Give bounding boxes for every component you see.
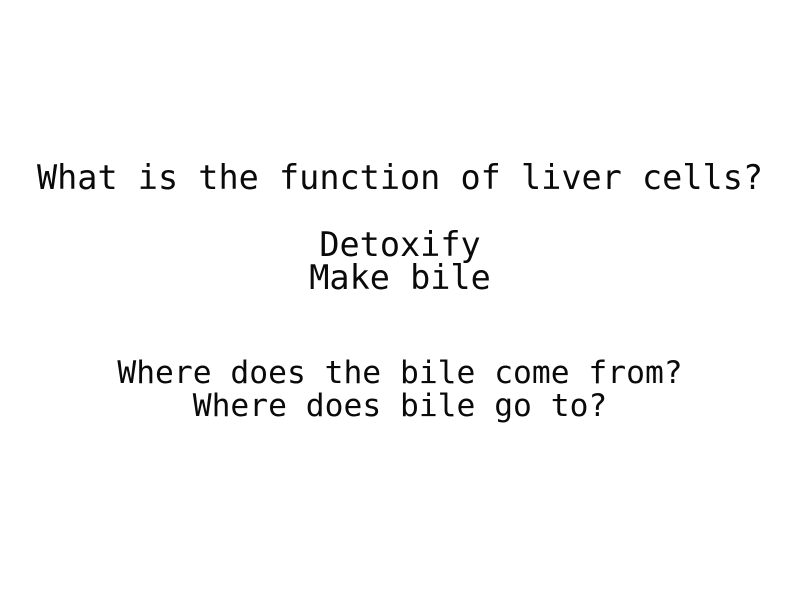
follow-up-question-bile-origin: Where does the bile come from?	[0, 358, 800, 389]
answer-line-make-bile: Make bile	[0, 261, 800, 295]
slide-canvas: What is the function of liver cells? Det…	[0, 0, 800, 600]
follow-up-question-bile-destination: Where does bile go to?	[0, 391, 800, 422]
main-question-text: What is the function of liver cells?	[0, 161, 800, 195]
answer-line-detoxify: Detoxify	[0, 228, 800, 262]
